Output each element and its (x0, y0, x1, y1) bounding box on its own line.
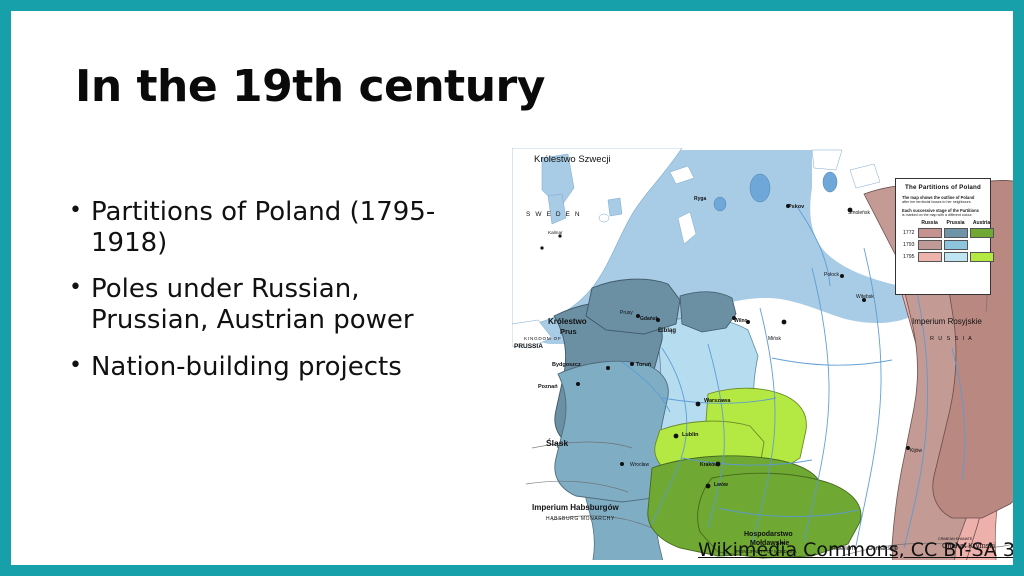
legend-row-1772: 1772 (902, 227, 995, 239)
svg-text:Smoleńsk: Smoleńsk (848, 210, 870, 216)
svg-text:Bydgoszcz: Bydgoszcz (552, 362, 581, 368)
list-item-label: Nation-building projects (91, 352, 464, 383)
svg-text:Kijów: Kijów (910, 448, 922, 454)
legend-year: 1793 (902, 239, 917, 251)
legend-col-prussia: Prussia (943, 220, 969, 227)
svg-text:Królestwo: Królestwo (548, 317, 587, 326)
svg-text:Pskov: Pskov (788, 204, 805, 210)
svg-text:Mińsk: Mińsk (768, 336, 782, 342)
slide-canvas: In the 19th century • Partitions of Pola… (11, 11, 1013, 565)
svg-text:KINGDOM OF: KINGDOM OF (524, 336, 562, 341)
svg-text:PRUSSIA: PRUSSIA (514, 343, 543, 350)
bullet-icon: • (69, 274, 82, 303)
legend-swatch-cell (917, 251, 943, 263)
list-item: • Partitions of Poland (1795-1918) (69, 197, 464, 258)
legend-year: 1795 (902, 251, 917, 263)
legend-note-2: Each successive stage of the Partitions … (902, 208, 984, 218)
legend-swatch-cell (917, 227, 943, 239)
svg-text:Lublin: Lublin (682, 432, 699, 438)
svg-text:Toruń: Toruń (636, 362, 652, 368)
list-item: • Poles under Russian, Prussian, Austria… (69, 274, 464, 335)
legend-swatch-cell (943, 251, 969, 263)
legend-swatch-cell (969, 251, 995, 263)
svg-text:Wrocław: Wrocław (630, 462, 649, 468)
svg-text:Warszawa: Warszawa (704, 398, 731, 404)
svg-text:Imperium Rosyjskie: Imperium Rosyjskie (912, 317, 982, 326)
svg-text:Lwów: Lwów (714, 482, 728, 488)
legend-year: 1772 (902, 227, 917, 239)
svg-text:R U S S I A: R U S S I A (930, 336, 973, 342)
bullet-icon: • (69, 352, 82, 381)
legend-col-russia: Russia (917, 220, 943, 227)
legend-note-1: The map shows the outline of Poland afte… (902, 195, 984, 205)
legend-swatch-austria-1795 (970, 252, 994, 262)
legend-title: The Partitions of Poland (902, 184, 984, 191)
legend-note-1-sub: after her territorial losses to her neig… (902, 200, 972, 204)
svg-text:Poznań: Poznań (538, 384, 558, 390)
page-title: In the 19th century (75, 61, 545, 112)
svg-text:Śląsk: Śląsk (546, 437, 568, 448)
legend-swatch-prussia-1772 (944, 228, 968, 238)
svg-text:Połock: Połock (824, 272, 840, 278)
svg-text:Kalmar: Kalmar (548, 230, 563, 235)
svg-text:S W E D E N: S W E D E N (526, 211, 581, 218)
svg-text:Królestwo Szwecji: Królestwo Szwecji (534, 154, 611, 165)
svg-text:Kraków: Kraków (700, 462, 718, 468)
svg-text:Prusy: Prusy (620, 310, 633, 316)
svg-text:Ryga: Ryga (694, 196, 706, 202)
list-item-label: Partitions of Poland (1795-1918) (91, 197, 464, 258)
legend-swatch-austria-1772 (970, 228, 994, 238)
legend-row-1795: 1795 (902, 251, 995, 263)
legend-row-1793: 1793 (902, 239, 995, 251)
legend-note-2-sub: is marked on the map with a different co… (902, 213, 972, 217)
legend-corner (902, 220, 917, 227)
legend-swatch-austria-1793 (970, 241, 992, 249)
svg-text:Imperium Habsburgów: Imperium Habsburgów (532, 503, 619, 512)
svg-text:Witebsk: Witebsk (856, 294, 874, 300)
legend-swatch-prussia-1795 (944, 252, 968, 262)
list-item-label: Poles under Russian, Prussian, Austrian … (91, 274, 464, 335)
map-figure: Królestwo Szwecji S W E D E N Królestwo … (512, 148, 1013, 560)
svg-text:Hospodarstwo: Hospodarstwo (744, 531, 793, 538)
legend-swatch-russia-1772 (918, 228, 942, 238)
legend-swatch-cell (917, 239, 943, 251)
legend-header-row: Russia Prussia Austria (902, 220, 995, 227)
map-legend: The Partitions of Poland The map shows t… (895, 178, 991, 295)
legend-table: Russia Prussia Austria 1772 1793 (902, 220, 995, 263)
list-item: • Nation-building projects (69, 352, 464, 383)
svg-text:Prus: Prus (560, 327, 577, 336)
bullet-icon: • (69, 197, 82, 226)
legend-swatch-cell (943, 239, 969, 251)
svg-text:HABSBURG MONARCHY: HABSBURG MONARCHY (546, 516, 615, 522)
svg-text:Wilno: Wilno (734, 318, 748, 324)
legend-swatch-cell (969, 239, 995, 251)
legend-swatch-russia-1793 (918, 240, 942, 250)
image-credit-link[interactable]: Wikimedia Commons, CC BY-SA 3.0 (698, 539, 1013, 561)
svg-text:Elbląg: Elbląg (658, 328, 676, 334)
legend-swatch-prussia-1793 (944, 240, 968, 250)
bullet-list: • Partitions of Poland (1795-1918) • Pol… (69, 197, 464, 398)
legend-swatch-cell (943, 227, 969, 239)
legend-swatch-cell (969, 227, 995, 239)
legend-col-austria: Austria (969, 220, 995, 227)
svg-text:Gdańsk: Gdańsk (640, 316, 659, 322)
legend-swatch-russia-1795 (918, 252, 942, 262)
